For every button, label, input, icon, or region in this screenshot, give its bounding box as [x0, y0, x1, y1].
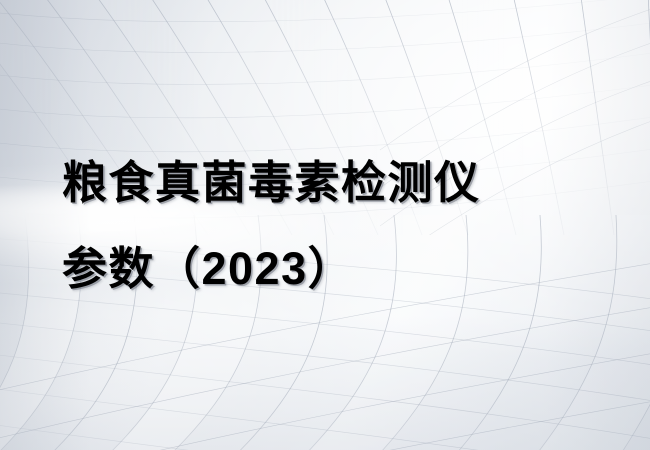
- title-line-1: 粮食真菌毒素检测仪: [62, 140, 602, 226]
- page-title: 粮食真菌毒素检测仪 参数（2023）: [62, 140, 602, 312]
- title-banner: 粮食真菌毒素检测仪 参数（2023）: [0, 0, 650, 450]
- title-line-2: 参数（2023）: [62, 226, 602, 312]
